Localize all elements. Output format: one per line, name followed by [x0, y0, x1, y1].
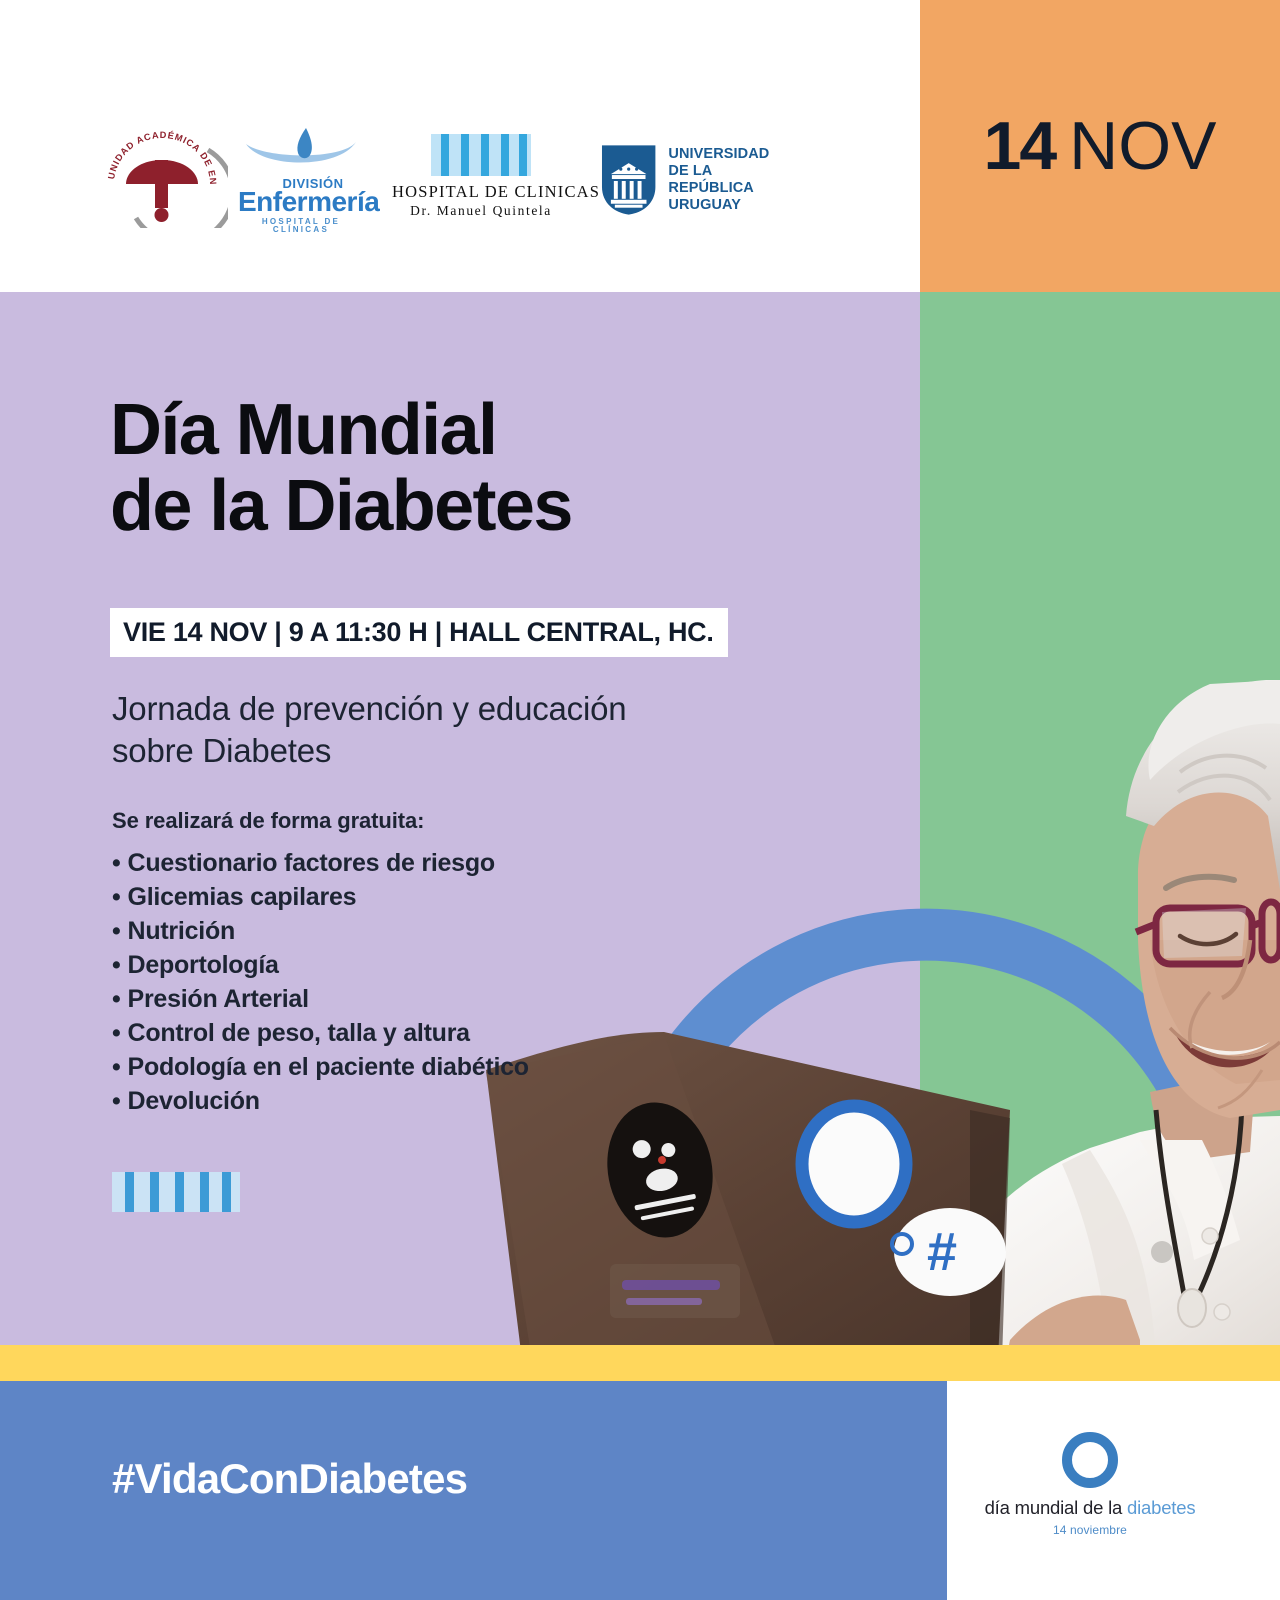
wdd-label-blue: diabetes — [1127, 1497, 1195, 1518]
enfermeria-label-hospital: HOSPITAL DE CLÍNICAS — [238, 218, 364, 234]
campaign-hashtag: #VidaConDiabetes — [112, 1455, 467, 1503]
logo-hospital-de-clinicas: HOSPITAL DE CLINICAS Dr. Manuel Quintela — [392, 134, 570, 224]
bullet-icon: • — [112, 1087, 121, 1115]
udelar-label-line1: UNIVERSIDAD — [668, 146, 800, 163]
list-item-label: Deportología — [128, 951, 279, 979]
event-datetime-bar: VIE 14 NOV | 9 A 11:30 H | HALL CENTRAL,… — [110, 608, 728, 657]
date-badge-day: 14 — [984, 107, 1056, 185]
list-item: •Podología en el paciente diabético — [112, 1050, 752, 1084]
subtitle-line-1: Jornada de prevención y educación — [112, 688, 812, 730]
wdd-label-name: día mundial de la diabetes — [975, 1497, 1205, 1519]
logo-universidad-de-la-republica: UNIVERSIDAD DE LA REPÚBLICA URUGUAY — [600, 142, 800, 218]
hospital-label-name: HOSPITAL DE CLINICAS — [392, 182, 570, 202]
date-badge: 14 NOV — [920, 0, 1280, 292]
list-item-label: Nutrición — [128, 917, 235, 945]
list-item-label: Devolución — [128, 1087, 260, 1115]
wdd-label-date: 14 noviembre — [975, 1523, 1205, 1537]
bullet-icon: • — [112, 951, 121, 979]
list-item: •Control de peso, talla y altura — [112, 1016, 752, 1050]
logo-unidad-academica-endocrinologia: UNIDAD ACADÉMICA DE ENDOCRINOLOGÍA Y MET… — [96, 120, 228, 228]
list-item: •Deportología — [112, 948, 752, 982]
list-item: •Glicemias capilares — [112, 880, 752, 914]
background-band-green — [920, 292, 1280, 1345]
blue-circle-icon — [1062, 1432, 1118, 1488]
list-item: •Devolución — [112, 1084, 752, 1118]
logo-division-enfermeria: DIVISIÓN Enfermería HOSPITAL DE CLÍNICAS — [238, 126, 364, 226]
list-item-label: Control de peso, talla y altura — [128, 1019, 470, 1047]
headline-line-1: Día Mundial — [110, 392, 900, 468]
enfermeria-label-name: Enfermería — [238, 188, 364, 216]
services-lead-in: Se realizará de forma gratuita: — [112, 808, 424, 834]
list-item: •Presión Arterial — [112, 982, 752, 1016]
event-subtitle: Jornada de prevención y educación sobre … — [112, 688, 812, 772]
poster: UNIDAD ACADÉMICA DE ENDOCRINOLOGÍA Y MET… — [0, 0, 1280, 1600]
decorative-building-bars-icon — [112, 1172, 240, 1212]
wdd-label-dark: día mundial de la — [985, 1497, 1127, 1518]
hospital-building-icon — [431, 134, 531, 176]
enfermeria-flame-icon — [238, 126, 364, 172]
date-badge-month: NOV — [1069, 107, 1216, 185]
udelar-shield-icon — [600, 143, 657, 217]
services-list: •Cuestionario factores de riesgo •Glicem… — [112, 846, 752, 1118]
page-title: Día Mundial de la Diabetes — [110, 392, 900, 545]
list-item: •Cuestionario factores de riesgo — [112, 846, 752, 880]
logo-row: UNIDAD ACADÉMICA DE ENDOCRINOLOGÍA Y MET… — [0, 0, 920, 292]
list-item: •Nutrición — [112, 914, 752, 948]
bullet-icon: • — [112, 1053, 121, 1081]
list-item-label: Podología en el paciente diabético — [128, 1053, 529, 1081]
list-item-label: Glicemias capilares — [128, 883, 357, 911]
list-item-label: Presión Arterial — [128, 985, 309, 1013]
unidad-academica-icon: UNIDAD ACADÉMICA DE ENDOCRINOLOGÍA Y MET… — [96, 120, 228, 228]
logo-world-diabetes-day: día mundial de la diabetes 14 noviembre — [975, 1432, 1205, 1537]
list-item-label: Cuestionario factores de riesgo — [128, 849, 495, 877]
bullet-icon: • — [112, 1019, 121, 1047]
headline-line-2: de la Diabetes — [110, 468, 900, 544]
bullet-icon: • — [112, 849, 121, 877]
subtitle-line-2: sobre Diabetes — [112, 730, 812, 772]
bullet-icon: • — [112, 883, 121, 911]
udelar-label-line3: URUGUAY — [668, 197, 800, 214]
hospital-label-subname: Dr. Manuel Quintela — [392, 203, 570, 219]
udelar-label-line2: DE LA REPÚBLICA — [668, 163, 800, 197]
background-band-yellow — [0, 1345, 1280, 1381]
bullet-icon: • — [112, 917, 121, 945]
bullet-icon: • — [112, 985, 121, 1013]
